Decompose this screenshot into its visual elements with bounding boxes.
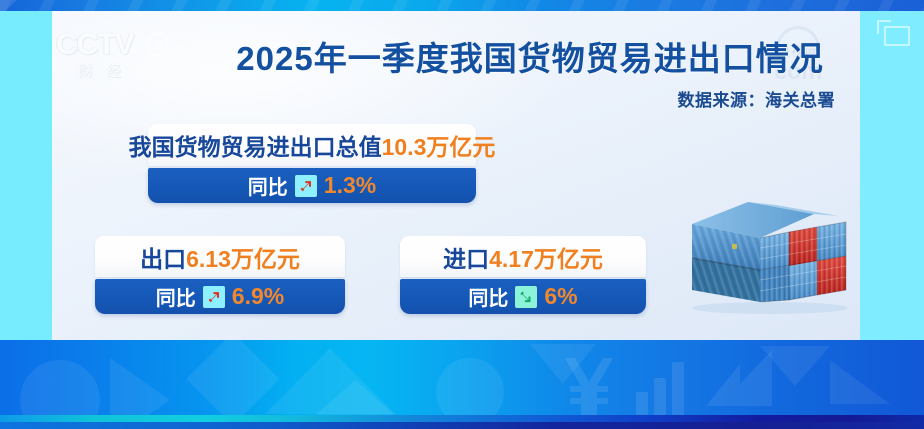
- card-export-yoy-value: 6.9%: [232, 283, 284, 310]
- card-total-yoy-row: 同比 1.3%: [148, 168, 476, 203]
- cctv-logo-text: CCTV 2: [56, 28, 184, 62]
- card-import-headline: 进口 4.17万亿元: [400, 236, 646, 277]
- card-total-value: 10.3万亿元: [382, 128, 496, 162]
- card-export-value: 6.13万亿元: [186, 240, 300, 274]
- card-total-label: 我国货物贸易进出口总值: [129, 128, 382, 162]
- arrow-down-right-icon: [515, 286, 537, 308]
- card-total-headline: 我国货物贸易进出口总值 10.3万亿元: [148, 124, 476, 166]
- infographic-stage: CCTV 2 财经 央视网 com 2025年一季度我国货物贸易进出口情况 数据…: [0, 0, 924, 429]
- cctv2-channel-logo: CCTV 2 财经: [56, 28, 184, 90]
- card-import-value: 4.17万亿元: [489, 240, 603, 274]
- cctv-channel-name: 财经: [56, 62, 184, 82]
- cctv-logo-letters: CCTV: [56, 28, 134, 61]
- bar-chart-motif: [636, 362, 684, 418]
- card-total-yoy-label: 同比: [248, 171, 288, 200]
- bottom-decorative-band: [0, 340, 924, 429]
- corner-bracket-icon: [884, 26, 910, 46]
- band-bottom-edge: [0, 422, 924, 429]
- cctv-channel-number: 2: [146, 33, 169, 56]
- card-import-label: 进口: [443, 240, 489, 274]
- card-import: 进口 4.17万亿元 同比 6%: [400, 236, 646, 314]
- page-title: 2025年一季度我国货物贸易进出口情况: [210, 32, 850, 80]
- card-export-yoy-row: 同比 6.9%: [95, 279, 345, 314]
- arrow-up-right-icon: [295, 175, 317, 197]
- card-total-trade: 我国货物贸易进出口总值 10.3万亿元 同比 1.3%: [148, 124, 476, 203]
- left-cyan-rail: [0, 11, 52, 340]
- yen-symbol-motif: [565, 358, 613, 416]
- right-cyan-rail: [860, 11, 924, 340]
- shipping-containers-illustration: [686, 196, 856, 316]
- card-export-yoy-label: 同比: [156, 282, 196, 311]
- card-export-headline: 出口 6.13万亿元: [95, 236, 345, 277]
- card-import-yoy-value: 6%: [544, 283, 577, 310]
- data-source-label: 数据来源：海关总署: [210, 86, 835, 111]
- card-import-yoy-label: 同比: [468, 282, 508, 311]
- arrow-up-right-icon: [203, 286, 225, 308]
- card-export: 出口 6.13万亿元 同比 6.9%: [95, 236, 345, 314]
- card-import-yoy-row: 同比 6%: [400, 279, 646, 314]
- top-decorative-strip: [0, 0, 924, 11]
- card-total-yoy-value: 1.3%: [324, 172, 376, 199]
- card-export-label: 出口: [140, 240, 186, 274]
